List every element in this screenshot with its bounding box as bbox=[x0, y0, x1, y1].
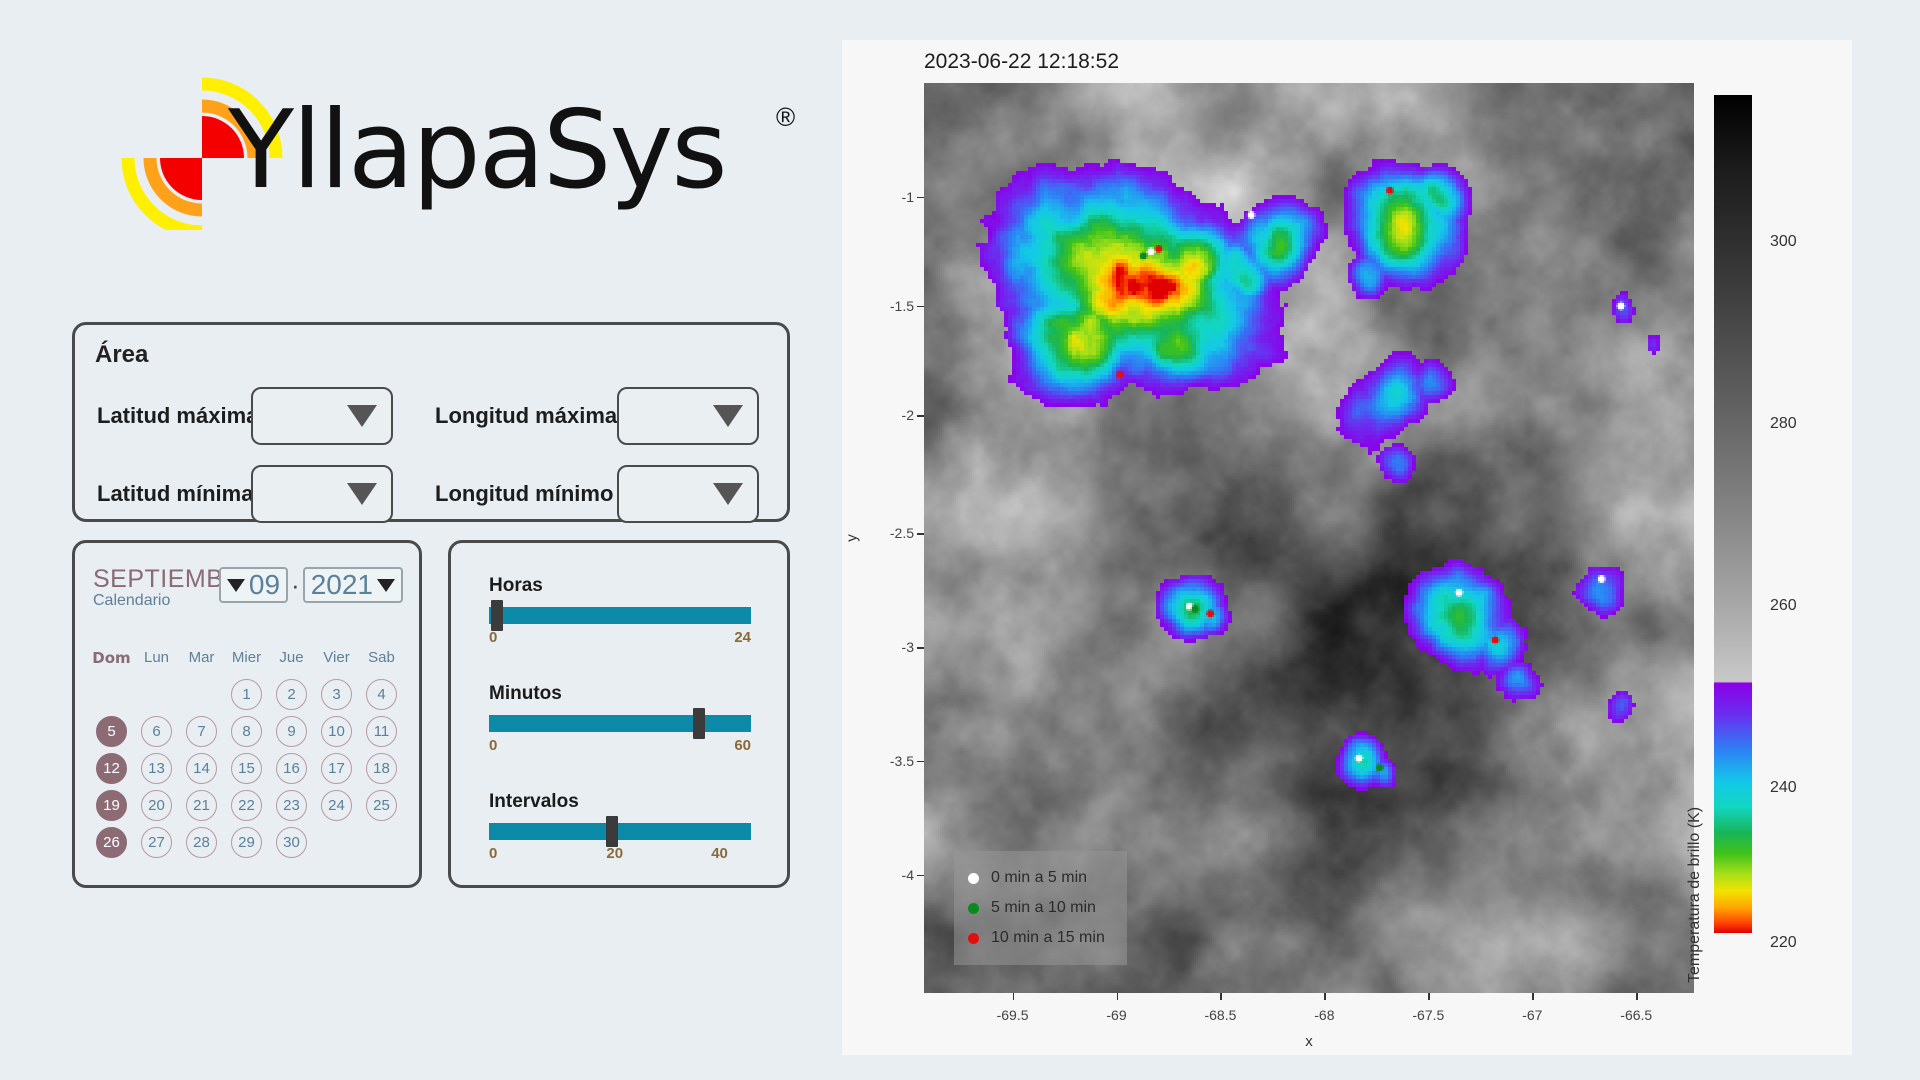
time-sliders-panel: Horas024 Minutos060 Intervalos02040 bbox=[448, 540, 790, 888]
area-panel: Área Latitud máxima Longitud máxima Lati… bbox=[72, 322, 790, 522]
calendar-day-empty bbox=[96, 679, 127, 710]
calendar-day-18[interactable]: 18 bbox=[366, 753, 397, 784]
calendar-day-19[interactable]: 19 bbox=[96, 790, 127, 821]
lat-max-label: Latitud máxima bbox=[97, 403, 237, 429]
legend-label: 5 min a 10 min bbox=[991, 899, 1096, 917]
slider-tick-40: 40 bbox=[711, 845, 728, 862]
colorbar-tick-label: 300 bbox=[1770, 233, 1797, 251]
legend-color-dot bbox=[968, 903, 979, 914]
field-lat-max: Latitud máxima bbox=[97, 387, 393, 445]
slider-ticks: 060 bbox=[489, 737, 751, 759]
x-tick-label: -67.5 bbox=[1412, 1007, 1444, 1023]
weekday-sab: Sab bbox=[368, 649, 395, 666]
lat-max-dropdown[interactable] bbox=[251, 387, 393, 445]
calendar-day-30[interactable]: 30 bbox=[276, 827, 307, 858]
field-lon-max: Longitud máxima bbox=[435, 387, 759, 445]
colorbar-tick-label: 240 bbox=[1770, 779, 1797, 797]
weekday-jue: Jue bbox=[279, 649, 303, 666]
left-control-column: YllapaSys ® Área Latitud máxima Longitud… bbox=[0, 0, 840, 1080]
calendar-day-21[interactable]: 21 bbox=[186, 790, 217, 821]
y-axis: y -1-1.5-2-2.5-3-3.5-4 bbox=[842, 83, 924, 993]
x-tick-mark bbox=[1013, 993, 1015, 1000]
y-tick-mark bbox=[917, 533, 924, 535]
x-axis: x -69.5-69-68.5-68-67.5-67-66.5 bbox=[924, 993, 1694, 1053]
slider-tick-0: 0 bbox=[489, 845, 497, 862]
calendar-day-29[interactable]: 29 bbox=[231, 827, 262, 858]
y-tick-mark bbox=[917, 647, 924, 649]
y-tick-mark bbox=[917, 306, 924, 308]
calendar-day-11[interactable]: 11 bbox=[366, 716, 397, 747]
calendar-day-empty bbox=[366, 827, 397, 858]
year-value: 2021 bbox=[311, 571, 373, 599]
month-select[interactable]: 09 bbox=[219, 567, 288, 603]
weekday-mier: Mier bbox=[232, 649, 261, 666]
calendar-week-row: 1234 bbox=[89, 676, 407, 713]
weekday-vier: Vier bbox=[323, 649, 349, 666]
slider-thumb[interactable] bbox=[491, 600, 503, 631]
calendar-week-row: 2627282930 bbox=[89, 824, 407, 861]
slider-track[interactable] bbox=[489, 607, 751, 624]
x-axis-label: x bbox=[1305, 1033, 1313, 1050]
y-tick-label: -3.5 bbox=[890, 753, 914, 769]
x-tick-mark bbox=[1324, 993, 1326, 1000]
x-tick-label: -67 bbox=[1522, 1007, 1542, 1023]
calendar-day-empty bbox=[321, 827, 352, 858]
calendar-day-6[interactable]: 6 bbox=[141, 716, 172, 747]
slider-track[interactable] bbox=[489, 715, 751, 732]
brand-logo: YllapaSys ® bbox=[100, 60, 740, 240]
slider-thumb[interactable] bbox=[606, 816, 618, 847]
calendar-grid: DomLunMarMierJueVierSab12345678910111213… bbox=[89, 639, 407, 861]
y-tick-mark bbox=[917, 415, 924, 417]
field-lat-min: Latitud mínima bbox=[97, 465, 393, 523]
calendar-weekday-row: DomLunMarMierJueVierSab bbox=[89, 639, 407, 676]
colorbar-tick-label: 220 bbox=[1770, 934, 1797, 952]
app-root: YllapaSys ® Área Latitud máxima Longitud… bbox=[0, 0, 1920, 1080]
lon-min-label: Longitud mínimo bbox=[435, 481, 603, 507]
calendar-day-2[interactable]: 2 bbox=[276, 679, 307, 710]
slider-tick-24: 24 bbox=[734, 629, 751, 646]
legend-item: 5 min a 10 min bbox=[968, 893, 1105, 923]
y-tick-mark bbox=[917, 761, 924, 763]
lat-min-dropdown[interactable] bbox=[251, 465, 393, 523]
slider-ticks: 024 bbox=[489, 629, 751, 651]
chevron-down-icon bbox=[713, 405, 743, 427]
x-tick-label: -66.5 bbox=[1620, 1007, 1652, 1023]
colorbar: Temperatura de brillo (K) 30028026024022… bbox=[1714, 83, 1844, 993]
area-panel-title: Área bbox=[95, 341, 148, 369]
calendar-day-13[interactable]: 13 bbox=[141, 753, 172, 784]
slider-label: Minutos bbox=[489, 683, 751, 705]
legend-item: 0 min a 5 min bbox=[968, 863, 1105, 893]
slider-tick-20: 20 bbox=[606, 845, 623, 862]
calendar-day-14[interactable]: 14 bbox=[186, 753, 217, 784]
satellite-chart-panel: 2023-06-22 12:18:52 y -1-1.5-2-2.5-3-3.5… bbox=[842, 40, 1852, 1055]
slider-label: Intervalos bbox=[489, 791, 751, 813]
y-axis-label: y bbox=[843, 534, 860, 542]
date-separator: · bbox=[291, 572, 300, 598]
y-tick-label: -2.5 bbox=[890, 525, 914, 541]
calendar-day-23[interactable]: 23 bbox=[276, 790, 307, 821]
slider-label: Horas bbox=[489, 575, 751, 597]
slider-tick-0: 0 bbox=[489, 737, 497, 754]
lon-max-dropdown[interactable] bbox=[617, 387, 759, 445]
calendar-date-selectors: 09 · 2021 bbox=[219, 567, 403, 603]
calendar-day-17[interactable]: 17 bbox=[321, 753, 352, 784]
brand-name: YllapaSys bbox=[228, 88, 726, 213]
colorbar-label: Temperatura de brillo (K) bbox=[1686, 807, 1704, 983]
calendar-day-1[interactable]: 1 bbox=[231, 679, 262, 710]
legend-color-dot bbox=[968, 873, 979, 884]
chevron-down-icon bbox=[347, 405, 377, 427]
calendar-day-3[interactable]: 3 bbox=[321, 679, 352, 710]
y-tick-label: -1 bbox=[902, 189, 914, 205]
x-tick-mark bbox=[1636, 993, 1638, 1000]
slider-tick-60: 60 bbox=[734, 737, 751, 754]
calendar-day-10[interactable]: 10 bbox=[321, 716, 352, 747]
slider-ticks: 02040 bbox=[489, 845, 751, 867]
y-tick-label: -4 bbox=[902, 867, 914, 883]
calendar-day-4[interactable]: 4 bbox=[366, 679, 397, 710]
slider-minutos: Minutos060 bbox=[489, 683, 751, 759]
y-tick-mark bbox=[917, 197, 924, 199]
legend-label: 10 min a 15 min bbox=[991, 929, 1105, 947]
month-value: 09 bbox=[249, 571, 280, 599]
x-tick-label: -69 bbox=[1106, 1007, 1126, 1023]
calendar-day-empty bbox=[141, 679, 172, 710]
legend-item: 10 min a 15 min bbox=[968, 923, 1105, 953]
calendar-day-22[interactable]: 22 bbox=[231, 790, 262, 821]
y-tick-label: -3 bbox=[902, 639, 914, 655]
calendar-day-9[interactable]: 9 bbox=[276, 716, 307, 747]
calendar-day-7[interactable]: 7 bbox=[186, 716, 217, 747]
colorbar-gradient bbox=[1714, 95, 1752, 933]
legend-color-dot bbox=[968, 933, 979, 944]
calendar-day-25[interactable]: 25 bbox=[366, 790, 397, 821]
legend-label: 0 min a 5 min bbox=[991, 869, 1087, 887]
calendar-week-row: 567891011 bbox=[89, 713, 407, 750]
x-tick-label: -69.5 bbox=[997, 1007, 1029, 1023]
x-tick-mark bbox=[1532, 993, 1534, 1000]
field-lon-min: Longitud mínimo bbox=[435, 465, 759, 523]
calendar-panel: SEPTIEMBRE Calendario 09 · 2021 DomLunMa… bbox=[72, 540, 422, 888]
calendar-day-24[interactable]: 24 bbox=[321, 790, 352, 821]
x-tick-label: -68 bbox=[1314, 1007, 1334, 1023]
colorbar-tick-label: 260 bbox=[1770, 597, 1797, 615]
chevron-down-icon bbox=[227, 579, 245, 592]
x-tick-mark bbox=[1428, 993, 1430, 1000]
slider-tick-0: 0 bbox=[489, 629, 497, 646]
x-tick-label: -68.5 bbox=[1204, 1007, 1236, 1023]
weekday-mar: Mar bbox=[189, 649, 215, 666]
calendar-day-20[interactable]: 20 bbox=[141, 790, 172, 821]
x-tick-mark bbox=[1117, 993, 1119, 1000]
calendar-week-row: 12131415161718 bbox=[89, 750, 407, 787]
satellite-image[interactable]: 0 min a 5 min 5 min a 10 min 10 min a 15… bbox=[924, 83, 1694, 993]
weekday-lun: Lun bbox=[144, 649, 169, 666]
slider-intervalos: Intervalos02040 bbox=[489, 791, 751, 867]
lat-min-label: Latitud mínima bbox=[97, 481, 237, 507]
calendar-day-15[interactable]: 15 bbox=[231, 753, 262, 784]
lon-min-dropdown[interactable] bbox=[617, 465, 759, 523]
weekday-dom: Dom bbox=[92, 649, 130, 667]
y-tick-mark bbox=[917, 875, 924, 877]
calendar-day-empty bbox=[186, 679, 217, 710]
lon-max-label: Longitud máxima bbox=[435, 403, 603, 429]
calendar-day-5[interactable]: 5 bbox=[96, 716, 127, 747]
registered-mark-icon: ® bbox=[776, 102, 795, 133]
chart-legend: 0 min a 5 min 5 min a 10 min 10 min a 15… bbox=[954, 851, 1127, 965]
chart-title: 2023-06-22 12:18:52 bbox=[924, 50, 1119, 74]
slider-thumb[interactable] bbox=[693, 708, 705, 739]
year-select[interactable]: 2021 bbox=[303, 567, 403, 603]
chevron-down-icon bbox=[377, 579, 395, 592]
calendar-day-12[interactable]: 12 bbox=[96, 753, 127, 784]
calendar-day-27[interactable]: 27 bbox=[141, 827, 172, 858]
calendar-day-26[interactable]: 26 bbox=[96, 827, 127, 858]
calendar-week-row: 19202122232425 bbox=[89, 787, 407, 824]
slider-track[interactable] bbox=[489, 823, 751, 840]
calendar-day-28[interactable]: 28 bbox=[186, 827, 217, 858]
calendar-day-16[interactable]: 16 bbox=[276, 753, 307, 784]
chevron-down-icon bbox=[713, 483, 743, 505]
slider-horas: Horas024 bbox=[489, 575, 751, 651]
chevron-down-icon bbox=[347, 483, 377, 505]
y-tick-label: -2 bbox=[902, 407, 914, 423]
colorbar-tick-label: 280 bbox=[1770, 415, 1797, 433]
x-tick-mark bbox=[1220, 993, 1222, 1000]
calendar-day-8[interactable]: 8 bbox=[231, 716, 262, 747]
y-tick-label: -1.5 bbox=[890, 298, 914, 314]
